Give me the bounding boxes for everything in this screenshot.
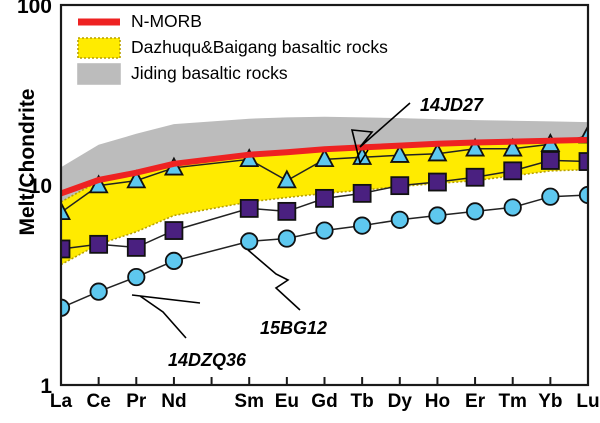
legend-label-jiding-basaltic-rocks: Jiding basaltic rocks bbox=[131, 63, 288, 84]
marker-15bg12 bbox=[90, 236, 107, 253]
legend-label-dazhuqu-baigang-basaltic-rocks: Dazhuqu&Baigang basaltic rocks bbox=[131, 37, 388, 58]
marker-14dzq36 bbox=[128, 269, 144, 285]
marker-14dzq36 bbox=[354, 217, 370, 233]
marker-14dzq36 bbox=[166, 253, 182, 269]
marker-15bg12 bbox=[241, 200, 258, 217]
leader-14dzq36 bbox=[132, 295, 200, 338]
marker-15bg12 bbox=[504, 162, 521, 179]
marker-14dzq36 bbox=[90, 283, 106, 299]
marker-15bg12 bbox=[165, 222, 182, 239]
x-axis-ticks bbox=[61, 377, 588, 385]
x-tick-label-lu: Lu bbox=[566, 391, 600, 413]
marker-15bg12 bbox=[354, 185, 371, 202]
marker-15bg12 bbox=[316, 190, 333, 207]
marker-15bg12 bbox=[391, 177, 408, 194]
marker-14dzq36 bbox=[279, 230, 295, 246]
marker-15bg12 bbox=[128, 239, 145, 256]
annotation-14dzq36: 14DZQ36 bbox=[168, 350, 246, 371]
marker-14dzq36 bbox=[542, 188, 558, 204]
marker-14dzq36 bbox=[505, 199, 521, 215]
leader-15bg12 bbox=[248, 250, 300, 310]
annotation-15bg12: 15BG12 bbox=[260, 318, 327, 339]
marker-14dzq36 bbox=[467, 203, 483, 219]
annotation-14jd27: 14JD27 bbox=[420, 95, 483, 116]
marker-14dzq36 bbox=[241, 233, 257, 249]
ree-spider-diagram: Melt/Chondrite 100 10 1 N-MORBDazhuqu&Ba… bbox=[0, 0, 600, 423]
plot-canvas bbox=[0, 0, 600, 423]
marker-15bg12 bbox=[542, 152, 559, 169]
marker-14dzq36 bbox=[316, 222, 332, 238]
marker-15bg12 bbox=[467, 169, 484, 186]
marker-15bg12 bbox=[278, 203, 295, 220]
marker-14dzq36 bbox=[429, 207, 445, 223]
legend-swatch-jiding-basaltic-rocks bbox=[78, 64, 120, 84]
marker-15bg12 bbox=[429, 174, 446, 191]
marker-14dzq36 bbox=[392, 212, 408, 228]
x-tick-label-nd: Nd bbox=[152, 391, 196, 413]
legend-label-n-morb: N-MORB bbox=[131, 11, 202, 32]
legend-swatch-dazhuqu-baigang-basaltic-rocks bbox=[78, 38, 120, 58]
